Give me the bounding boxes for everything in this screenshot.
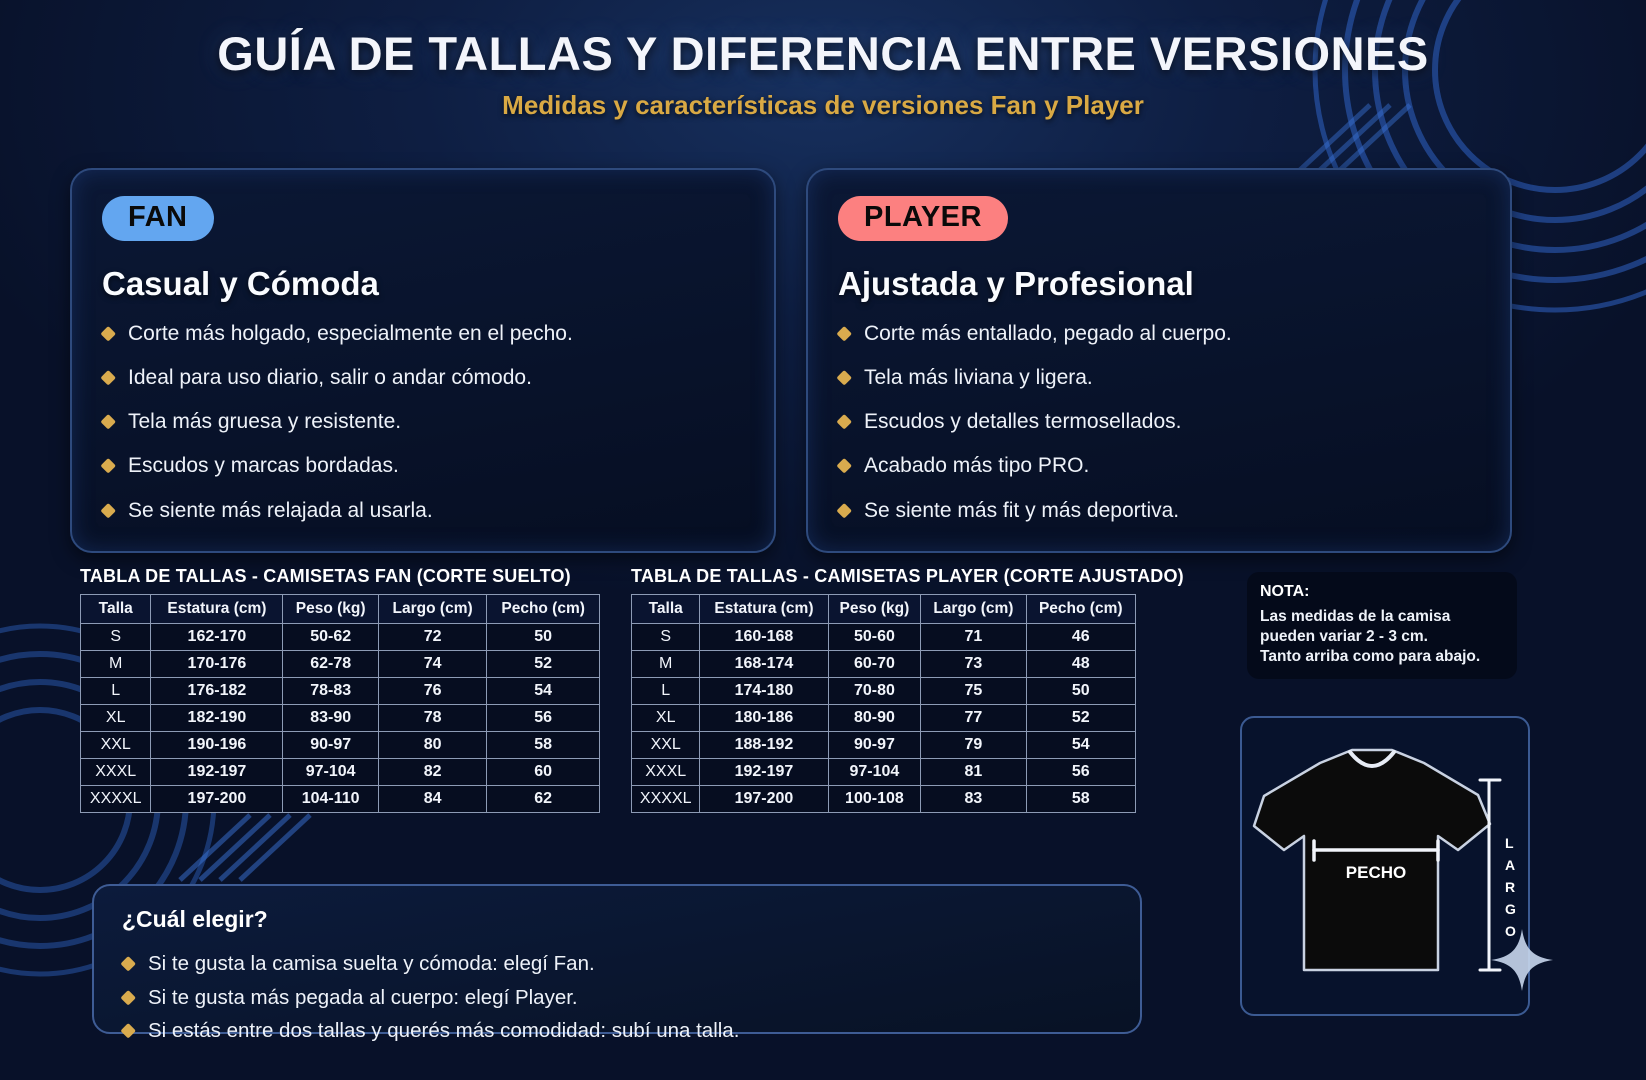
cell-weight: 97-104 [283, 759, 379, 786]
list-item: Escudos y marcas bordadas. [102, 454, 744, 478]
feature-text: Escudos y marcas bordadas. [128, 454, 399, 478]
choose-text: Si estás entre dos tallas y querés más c… [148, 1019, 739, 1043]
feature-text: Se siente más relajada al usarla. [128, 499, 433, 523]
column-header: Estatura (cm) [151, 595, 283, 624]
table-caption-fan: TABLA DE TALLAS - CAMISETAS FAN (CORTE S… [80, 566, 600, 587]
table-row: XXL 188-192 90-97 79 54 [632, 732, 1136, 759]
cell-weight: 78-83 [283, 678, 379, 705]
cell-size: S [81, 624, 151, 651]
card-heading-fan: Casual y Cómoda [102, 265, 744, 303]
length-label-a: A [1505, 857, 1515, 873]
cell-weight: 83-90 [283, 705, 379, 732]
diamond-bullet-icon [100, 414, 116, 430]
cell-chest: 56 [1026, 759, 1135, 786]
cell-height: 197-200 [151, 786, 283, 813]
table-header-row: Talla Estatura (cm) Peso (kg) Largo (cm)… [81, 595, 600, 624]
list-item: Ideal para uso diario, salir o andar cóm… [102, 366, 744, 390]
table-row: XXXXL 197-200 100-108 83 58 [632, 786, 1136, 813]
list-item: Corte más holgado, especialmente en el p… [102, 322, 744, 346]
note-line: Las medidas de la camisa [1260, 607, 1504, 627]
list-item: Acabado más tipo PRO. [838, 454, 1480, 478]
table-caption-player: TABLA DE TALLAS - CAMISETAS PLAYER (CORT… [631, 566, 1136, 587]
diamond-bullet-icon [836, 503, 852, 519]
table-row: XXL 190-196 90-97 80 58 [81, 732, 600, 759]
list-item: Se siente más relajada al usarla. [102, 499, 744, 523]
cell-length: 78 [378, 705, 486, 732]
cell-weight: 50-60 [828, 624, 921, 651]
cell-chest: 58 [487, 732, 600, 759]
table-row: L 174-180 70-80 75 50 [632, 678, 1136, 705]
cell-chest: 58 [1026, 786, 1135, 813]
diamond-bullet-icon [836, 326, 852, 342]
cell-weight: 100-108 [828, 786, 921, 813]
column-header: Largo (cm) [921, 595, 1026, 624]
diamond-bullet-icon [100, 370, 116, 386]
feature-text: Se siente más fit y más deportiva. [864, 499, 1179, 523]
cell-weight: 90-97 [283, 732, 379, 759]
cell-height: 188-192 [700, 732, 828, 759]
table-row: S 160-168 50-60 71 46 [632, 624, 1136, 651]
list-item: Tela más liviana y ligera. [838, 366, 1480, 390]
diamond-bullet-icon [836, 458, 852, 474]
table-row: XXXL 192-197 97-104 82 60 [81, 759, 600, 786]
page-title: GUÍA DE TALLAS Y DIFERENCIA ENTRE VERSIO… [0, 26, 1646, 81]
cell-length: 80 [378, 732, 486, 759]
table-row: XL 182-190 83-90 78 56 [81, 705, 600, 732]
diamond-bullet-icon [100, 458, 116, 474]
cell-length: 76 [378, 678, 486, 705]
cell-size: XXXL [632, 759, 700, 786]
cell-height: 190-196 [151, 732, 283, 759]
table-row: S 162-170 50-62 72 50 [81, 624, 600, 651]
diamond-bullet-icon [120, 990, 136, 1006]
column-header: Pecho (cm) [1026, 595, 1135, 624]
cell-weight: 70-80 [828, 678, 921, 705]
cell-chest: 48 [1026, 651, 1135, 678]
badge-fan: FAN [102, 196, 214, 241]
card-heading-player: Ajustada y Profesional [838, 265, 1480, 303]
sparkle-icon [1487, 925, 1557, 995]
note-title: NOTA: [1260, 583, 1504, 601]
cell-chest: 50 [487, 624, 600, 651]
choose-title: ¿Cuál elegir? [122, 906, 1112, 933]
cell-length: 79 [921, 732, 1026, 759]
cell-chest: 60 [487, 759, 600, 786]
list-item: Corte más entallado, pegado al cuerpo. [838, 322, 1480, 346]
column-header: Peso (kg) [283, 595, 379, 624]
version-card-fan: FAN Casual y Cómoda Corte más holgado, e… [70, 168, 776, 553]
cell-height: 180-186 [700, 705, 828, 732]
cell-length: 74 [378, 651, 486, 678]
cell-size: XXL [81, 732, 151, 759]
version-card-player: PLAYER Ajustada y Profesional Corte más … [806, 168, 1512, 553]
cell-size: XXXXL [632, 786, 700, 813]
diamond-bullet-icon [836, 370, 852, 386]
list-item: Si estás entre dos tallas y querés más c… [122, 1019, 1112, 1043]
size-table-fan: Talla Estatura (cm) Peso (kg) Largo (cm)… [80, 594, 600, 813]
cell-weight: 90-97 [828, 732, 921, 759]
cell-weight: 50-62 [283, 624, 379, 651]
cell-length: 71 [921, 624, 1026, 651]
table-row: M 170-176 62-78 74 52 [81, 651, 600, 678]
column-header: Talla [81, 595, 151, 624]
cell-weight: 80-90 [828, 705, 921, 732]
badge-player: PLAYER [838, 196, 1008, 241]
diamond-bullet-icon [836, 414, 852, 430]
cell-chest: 52 [1026, 705, 1135, 732]
table-row: XL 180-186 80-90 77 52 [632, 705, 1136, 732]
cell-height: 182-190 [151, 705, 283, 732]
page-subtitle: Medidas y características de versiones F… [0, 90, 1646, 121]
cell-length: 73 [921, 651, 1026, 678]
cell-size: M [81, 651, 151, 678]
table-row: XXXXL 197-200 104-110 84 62 [81, 786, 600, 813]
cell-height: 192-197 [700, 759, 828, 786]
cell-chest: 52 [487, 651, 600, 678]
feature-text: Escudos y detalles termosellados. [864, 410, 1182, 434]
cell-length: 72 [378, 624, 486, 651]
cell-height: 168-174 [700, 651, 828, 678]
column-header: Pecho (cm) [487, 595, 600, 624]
feature-list-player: Corte más entallado, pegado al cuerpo. T… [838, 322, 1480, 523]
table-header-row: Talla Estatura (cm) Peso (kg) Largo (cm)… [632, 595, 1136, 624]
feature-text: Tela más gruesa y resistente. [128, 410, 401, 434]
cell-size: S [632, 624, 700, 651]
size-table-player: Talla Estatura (cm) Peso (kg) Largo (cm)… [631, 594, 1136, 813]
note-box: NOTA: Las medidas de la camisa pueden va… [1247, 572, 1517, 679]
size-table-player-block: TABLA DE TALLAS - CAMISETAS PLAYER (CORT… [631, 566, 1136, 813]
cell-length: 77 [921, 705, 1026, 732]
cell-chest: 54 [1026, 732, 1135, 759]
diamond-bullet-icon [120, 956, 136, 972]
cell-chest: 54 [487, 678, 600, 705]
choose-text: Si te gusta más pegada al cuerpo: elegí … [148, 986, 578, 1010]
cell-height: 160-168 [700, 624, 828, 651]
choose-list: Si te gusta la camisa suelta y cómoda: e… [122, 952, 1112, 1043]
cell-chest: 56 [487, 705, 600, 732]
cell-size: XXXXL [81, 786, 151, 813]
cell-height: 192-197 [151, 759, 283, 786]
list-item: Se siente más fit y más deportiva. [838, 499, 1480, 523]
feature-text: Acabado más tipo PRO. [864, 454, 1089, 478]
length-label-g: G [1505, 901, 1516, 917]
cell-size: M [632, 651, 700, 678]
list-item: Escudos y detalles termosellados. [838, 410, 1480, 434]
cell-weight: 104-110 [283, 786, 379, 813]
cell-size: XXXL [81, 759, 151, 786]
cell-size: XL [81, 705, 151, 732]
cell-size: XXL [632, 732, 700, 759]
choose-text: Si te gusta la camisa suelta y cómoda: e… [148, 952, 595, 976]
note-line: Tanto arriba como para abajo. [1260, 647, 1504, 667]
column-header: Peso (kg) [828, 595, 921, 624]
column-header: Talla [632, 595, 700, 624]
chest-label: PECHO [1346, 863, 1406, 882]
cell-height: 174-180 [700, 678, 828, 705]
column-header: Largo (cm) [378, 595, 486, 624]
cell-height: 170-176 [151, 651, 283, 678]
cell-length: 82 [378, 759, 486, 786]
table-row: L 176-182 78-83 76 54 [81, 678, 600, 705]
list-item: Si te gusta la camisa suelta y cómoda: e… [122, 952, 1112, 976]
cell-weight: 97-104 [828, 759, 921, 786]
cell-height: 197-200 [700, 786, 828, 813]
cell-height: 176-182 [151, 678, 283, 705]
cell-size: L [81, 678, 151, 705]
cell-length: 84 [378, 786, 486, 813]
feature-text: Corte más holgado, especialmente en el p… [128, 322, 573, 346]
size-table-fan-block: TABLA DE TALLAS - CAMISETAS FAN (CORTE S… [80, 566, 600, 813]
feature-text: Tela más liviana y ligera. [864, 366, 1093, 390]
table-row: M 168-174 60-70 73 48 [632, 651, 1136, 678]
diamond-bullet-icon [100, 503, 116, 519]
cell-weight: 60-70 [828, 651, 921, 678]
table-row: XXXL 192-197 97-104 81 56 [632, 759, 1136, 786]
cell-chest: 62 [487, 786, 600, 813]
cell-height: 162-170 [151, 624, 283, 651]
feature-text: Corte más entallado, pegado al cuerpo. [864, 322, 1232, 346]
page-header: GUÍA DE TALLAS Y DIFERENCIA ENTRE VERSIO… [0, 26, 1646, 121]
list-item: Si te gusta más pegada al cuerpo: elegí … [122, 986, 1112, 1010]
diamond-bullet-icon [100, 326, 116, 342]
note-line: pueden variar 2 - 3 cm. [1260, 627, 1504, 647]
column-header: Estatura (cm) [700, 595, 828, 624]
which-to-choose-box: ¿Cuál elegir? Si te gusta la camisa suel… [92, 884, 1142, 1034]
feature-text: Ideal para uso diario, salir o andar cóm… [128, 366, 532, 390]
cell-chest: 50 [1026, 678, 1135, 705]
feature-list-fan: Corte más holgado, especialmente en el p… [102, 322, 744, 523]
length-label-r: R [1505, 879, 1515, 895]
diamond-bullet-icon [120, 1023, 136, 1039]
cell-weight: 62-78 [283, 651, 379, 678]
list-item: Tela más gruesa y resistente. [102, 410, 744, 434]
cell-size: XL [632, 705, 700, 732]
cell-chest: 46 [1026, 624, 1135, 651]
length-label-l: L [1505, 835, 1514, 851]
cell-length: 81 [921, 759, 1026, 786]
cell-size: L [632, 678, 700, 705]
cell-length: 83 [921, 786, 1026, 813]
cell-length: 75 [921, 678, 1026, 705]
